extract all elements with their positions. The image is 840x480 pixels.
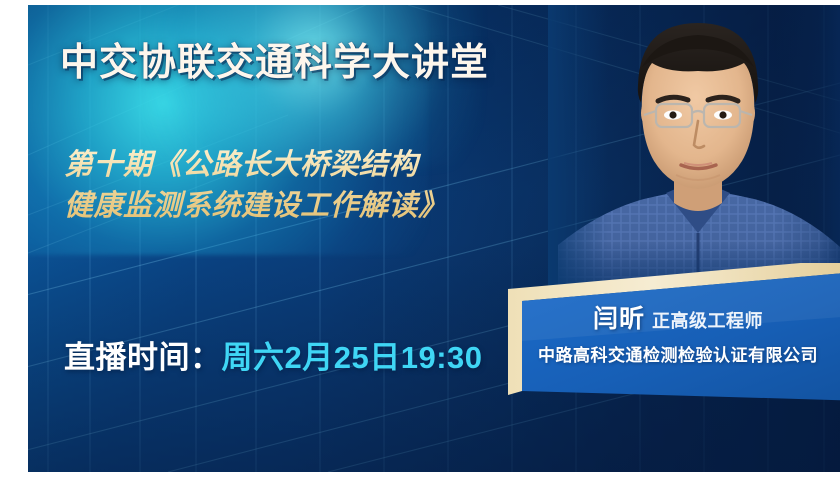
live-stream-poster: 中交协联交通科学大讲堂 第十期《公路长大桥梁结构 健康监测系统建设工作解读》 直… <box>0 0 840 480</box>
speaker-info-panel: 闫昕正高级工程师 中路高科交通检测检验认证有限公司 <box>506 263 840 408</box>
speaker-company: 中路高科交通检测检验认证有限公司 <box>506 341 840 366</box>
speaker-text-block: 闫昕正高级工程师 中路高科交通检测检验认证有限公司 <box>506 263 840 408</box>
speaker-role: 正高级工程师 <box>652 311 763 331</box>
live-time-value: 周六2月25日19:30 <box>222 340 483 375</box>
speaker-portrait <box>548 5 840 297</box>
speaker-name-line: 闫昕正高级工程师 <box>506 299 840 335</box>
speaker-name: 闫昕 <box>593 305 645 333</box>
subtitle: 第十期《公路长大桥梁结构 健康监测系统建设工作解读》 <box>64 145 544 227</box>
subtitle-line-1: 第十期《公路长大桥梁结构 <box>64 145 544 186</box>
page-title: 中交协联交通科学大讲堂 <box>60 31 489 86</box>
live-time: 直播时间：周六2月25日19:30 <box>64 332 483 377</box>
poster-canvas: 中交协联交通科学大讲堂 第十期《公路长大桥梁结构 健康监测系统建设工作解读》 直… <box>28 5 840 472</box>
subtitle-line-2: 健康监测系统建设工作解读》 <box>64 186 544 227</box>
live-time-label: 直播时间： <box>64 340 222 375</box>
